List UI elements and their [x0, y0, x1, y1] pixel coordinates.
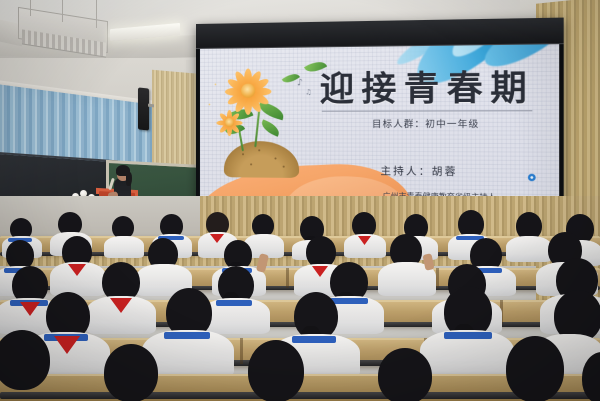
speaker-mount — [148, 104, 154, 108]
ac-support-rod — [30, 0, 31, 16]
wall-speaker-icon — [138, 87, 149, 130]
bench-rail-front — [0, 392, 600, 399]
presenter-hair-back — [126, 172, 132, 186]
slide-host-line: 主持人：胡蓉 — [380, 162, 457, 178]
music-note-icon: ♪ — [297, 78, 303, 88]
classroom-lecture-photo: ♪ ♫ 迎接青春期 目标人群：初中一年级 主持人：胡蓉 广州市青春健康教育省级主… — [0, 0, 600, 401]
music-note-icon: ♫ — [305, 88, 311, 96]
flower-small-icon — [214, 107, 244, 137]
ac-support-rod — [62, 0, 63, 22]
slide-subtitle: 目标人群：初中一年级 — [372, 117, 479, 131]
ac-support-rod — [96, 0, 97, 28]
slide-bullet-dot-icon — [528, 174, 536, 181]
slide-title: 迎接青春期 — [320, 70, 535, 106]
